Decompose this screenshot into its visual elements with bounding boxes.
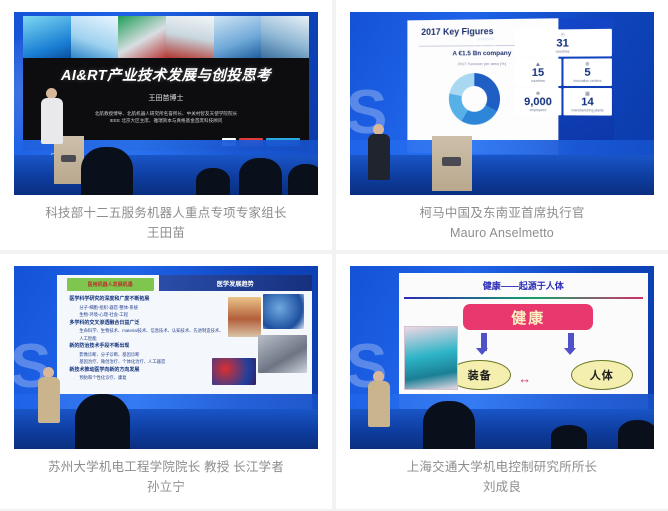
bidirectional-arrow-icon: ↔ bbox=[518, 371, 531, 386]
speaker-body bbox=[368, 381, 390, 427]
caption-role: 苏州大学机电工程学院院长 教授 长江学者 bbox=[48, 460, 284, 474]
kpi-value: 5 bbox=[563, 68, 611, 79]
presentation-screen: 2017 Key Figures A €1.5 Bn company 2017 … bbox=[407, 18, 613, 156]
donut-chart bbox=[449, 73, 500, 125]
kpi-tile: ▦ 14 manufacturing plants bbox=[563, 88, 611, 116]
slide-subtitle: 王田苗博士 bbox=[23, 93, 309, 103]
card-caption: 柯马中国及东南亚首席执行官 Mauro Anselmetto bbox=[336, 195, 668, 243]
kpi-label: countries bbox=[514, 49, 611, 54]
audience-silhouette bbox=[551, 425, 587, 449]
slide-divider bbox=[404, 297, 643, 299]
podium-plaque bbox=[442, 157, 461, 166]
bullet-l2: 生命科学、生物技术、material技术、信息技术、认知技术、先进制造技术、人工… bbox=[69, 327, 225, 342]
speaker-figure bbox=[368, 124, 390, 180]
bullet-l1: 新技术推动医学向新的方向发展 bbox=[69, 366, 225, 375]
bullet-l1: 多学科的交叉渗透融合日益广泛 bbox=[69, 319, 225, 328]
bullet-l2: 基因治疗、微创治疗、个体化治疗、人工器官 bbox=[69, 358, 225, 366]
presentation-screen: AI&RT产业技术发展与创投思考 王田苗博士 北航教授博导、北航机器人研究所名誉… bbox=[23, 16, 309, 151]
slide-title: 健康——起源于人体 bbox=[399, 279, 648, 292]
bullet-l1: 新的防治技术手段不断出现 bbox=[69, 342, 225, 351]
podium bbox=[432, 136, 472, 191]
caption-role: 柯马中国及东南亚首席执行官 bbox=[419, 206, 584, 220]
slide-tab: 医用机器人发展机遇 bbox=[67, 278, 154, 291]
bullet-l2: 分子-细胞-组织-器官-整体-系统 bbox=[69, 304, 225, 312]
photo-mauro-anselmetto[interactable]: S 2017 Key Figures A €1.5 Bn company 201… bbox=[350, 12, 654, 195]
kpi-label: countries bbox=[514, 79, 561, 83]
slide-title: AI&RT产业技术发展与创投思考 bbox=[23, 64, 309, 85]
podium-plaque bbox=[61, 155, 76, 163]
caption-name: 孙立宁 bbox=[0, 477, 332, 497]
brand-large-text: FCA bbox=[463, 41, 508, 53]
audience-silhouette bbox=[618, 420, 654, 449]
diagram-node-body: 人体 bbox=[571, 360, 633, 391]
slide-description-line1: 北航教授博导、北航机器人研究所名誉所长、中关村智友天使学院院长 bbox=[46, 110, 286, 117]
audience-silhouette bbox=[196, 168, 229, 195]
kpi-value: 15 bbox=[514, 68, 561, 79]
speaker-body bbox=[41, 98, 63, 144]
kpi-label: manufacturing plants bbox=[563, 108, 611, 112]
bullet-l2: 预防和个性化诊疗、康复 bbox=[69, 374, 225, 382]
speaker-card-mauro-anselmetto[interactable]: S 2017 Key Figures A €1.5 Bn company 201… bbox=[336, 0, 668, 250]
slide-bullets: 医学科学研究的深度和广度不断拓展 分子-细胞-组织-器官-整体-系统 生物-环境… bbox=[69, 295, 225, 382]
stage-floor bbox=[350, 155, 654, 195]
photo-liu-chengliang[interactable]: S 健康——起源于人体 健康 装备 ↔ 人体 bbox=[350, 266, 654, 449]
kpi-value: 9,000 bbox=[514, 97, 561, 108]
slide-header: 医学发展趋势 bbox=[159, 275, 312, 291]
down-arrow-head-right bbox=[564, 348, 576, 355]
caption-role: 上海交通大学机电控制研究所所长 bbox=[407, 460, 598, 474]
caption-role: 科技部十二五服务机器人重点专项专家组长 bbox=[45, 206, 286, 220]
slide-image-brain-robot bbox=[263, 294, 304, 329]
kpi-tile: ☸ 9,000 employees bbox=[514, 88, 561, 115]
slide-description: 北航教授博导、北航机器人研究所名誉所长、中关村智友天使学院院长 IEEE 北京大… bbox=[46, 110, 286, 124]
slide-description-line2: IEEE 北京大区主席、雅瑞资本与真格基金首席科技顾问 bbox=[46, 117, 286, 124]
kpi-label: innovation centers bbox=[563, 79, 611, 83]
presentation-screen: 医学发展趋势 医用机器人发展机遇 医学科学研究的深度和广度不断拓展 分子-细胞-… bbox=[57, 275, 312, 409]
speaker-body bbox=[368, 134, 390, 180]
bullet-l2: 生物-环境-心理-社会-工程 bbox=[69, 311, 225, 319]
slide-banner-collage bbox=[23, 16, 309, 58]
audience-silhouette bbox=[423, 401, 475, 449]
audience-silhouette bbox=[81, 147, 133, 195]
diagram-center-node: 健康 bbox=[463, 304, 593, 330]
speaker-card-liu-chengliang[interactable]: S 健康——起源于人体 健康 装备 ↔ 人体 bbox=[336, 254, 668, 509]
slide-image-machine bbox=[404, 326, 459, 390]
speaker-figure bbox=[41, 88, 63, 144]
photo-wang-tianmiao[interactable]: AI&RT产业技术发展与创投思考 王田苗博士 北航教授博导、北航机器人研究所名誉… bbox=[14, 12, 318, 195]
caption-name: Mauro Anselmetto bbox=[336, 223, 668, 243]
slide-title: 2017 Key Figures bbox=[421, 26, 493, 37]
kpi-tile: ☉ 31 countries bbox=[514, 29, 611, 57]
audience-silhouette bbox=[75, 394, 130, 449]
card-caption: 苏州大学机电工程学院院长 教授 长江学者 孙立宁 bbox=[0, 449, 332, 497]
speaker-card-wang-tianmiao[interactable]: AI&RT产业技术发展与创投思考 王田苗博士 北航教授博导、北航机器人研究所名誉… bbox=[0, 0, 332, 250]
audience-silhouette bbox=[239, 158, 282, 195]
stage-floor bbox=[350, 409, 654, 449]
speaker-figure bbox=[368, 371, 390, 427]
down-arrow-head-left bbox=[476, 348, 488, 355]
presentation-screen: 健康——起源于人体 健康 装备 ↔ 人体 bbox=[399, 273, 648, 412]
caption-name: 王田苗 bbox=[0, 223, 332, 243]
card-caption: 科技部十二五服务机器人重点专项专家组长 王田苗 bbox=[0, 195, 332, 243]
slide-image-spine bbox=[228, 297, 261, 337]
caption-name: 刘成良 bbox=[336, 477, 668, 497]
photo-sun-lining[interactable]: S 医学发展趋势 医用机器人发展机遇 医学科学研究的深度和广度不断拓展 分子-细… bbox=[14, 266, 318, 449]
slide-image-cells bbox=[212, 358, 255, 385]
speaker-card-grid: AI&RT产业技术发展与创投思考 王田苗博士 北航教授博导、北航机器人研究所名誉… bbox=[0, 0, 668, 511]
bullet-l2: 影像诊断、分子诊断、基因诊断 bbox=[69, 351, 225, 359]
speaker-card-sun-lining[interactable]: S 医学发展趋势 医用机器人发展机遇 医学科学研究的深度和广度不断拓展 分子-细… bbox=[0, 254, 332, 509]
audience-silhouette bbox=[288, 164, 318, 195]
speaker-body bbox=[38, 377, 60, 423]
card-caption: 上海交通大学机电控制研究所所长 刘成良 bbox=[336, 449, 668, 497]
kpi-tile: ⚙ 5 innovation centers bbox=[563, 59, 611, 87]
kpi-value: 14 bbox=[563, 97, 611, 108]
slide-image-surgical-device bbox=[258, 335, 307, 372]
kpi-grid: ☉ 31 countries ⛰ 15 countries ⚙ 5 innova… bbox=[514, 29, 611, 116]
speaker-figure bbox=[38, 367, 60, 423]
bullet-l1: 医学科学研究的深度和广度不断拓展 bbox=[69, 295, 225, 304]
kpi-tile: ⛰ 15 countries bbox=[514, 59, 561, 86]
kpi-label: employees bbox=[514, 108, 561, 112]
brand-block: A Brand of FCA bbox=[463, 37, 508, 53]
